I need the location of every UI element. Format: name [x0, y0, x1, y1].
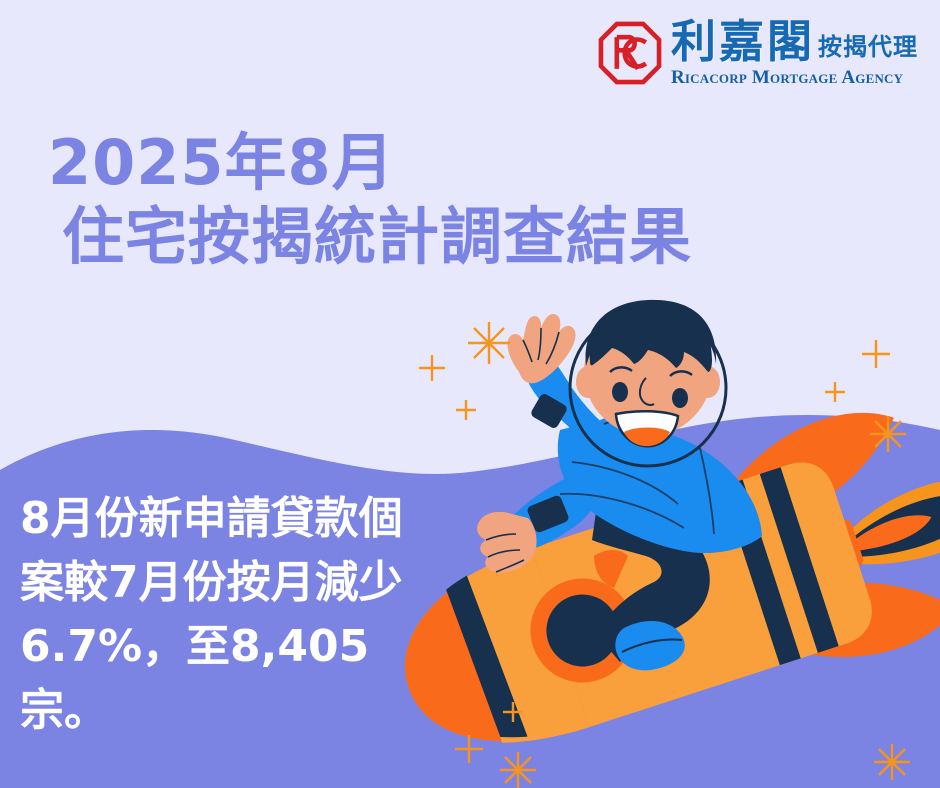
logo-chinese-row: 利嘉閣 按揭代理 — [671, 18, 918, 66]
sparkle-plus-icon-1 — [419, 355, 445, 381]
statistic-statement: 8月份新申請貸款個案較7月份按月減少6.7%，至8,405宗。 — [20, 487, 420, 743]
sparkle-plus-icon-6 — [455, 735, 483, 763]
sparkle-plus-icon-5 — [503, 702, 523, 722]
page-title: 2025年8月 住宅按揭統計調查結果 — [48, 126, 692, 274]
brand-logo: 利嘉閣 按揭代理 Ricacorp Mortgage Agency — [597, 18, 918, 89]
logo-english-name: Ricacorp Mortgage Agency — [671, 67, 903, 89]
logo-chinese-name: 利嘉閣 — [671, 18, 815, 66]
page-title-line-2: 住宅按揭統計調查結果 — [62, 200, 692, 274]
sparkle-plus-icon-4 — [825, 382, 845, 402]
logo-chinese-subtitle: 按揭代理 — [818, 34, 918, 60]
poster-canvas: 利嘉閣 按揭代理 Ricacorp Mortgage Agency 2025年8… — [0, 0, 940, 788]
sparkle-star-icon-1 — [468, 322, 510, 364]
sparkle-star-icon-2 — [870, 416, 906, 452]
sparkle-star-icon-4 — [874, 744, 910, 780]
sparkle-plus-icon-2 — [456, 400, 476, 420]
sparkle-plus-icon-3 — [862, 340, 890, 368]
ricacorp-rc-monogram-icon — [597, 20, 663, 86]
sparkle-star-icon-3 — [500, 752, 536, 788]
page-title-line-1: 2025年8月 — [48, 126, 692, 200]
logo-text-block: 利嘉閣 按揭代理 Ricacorp Mortgage Agency — [671, 18, 918, 89]
